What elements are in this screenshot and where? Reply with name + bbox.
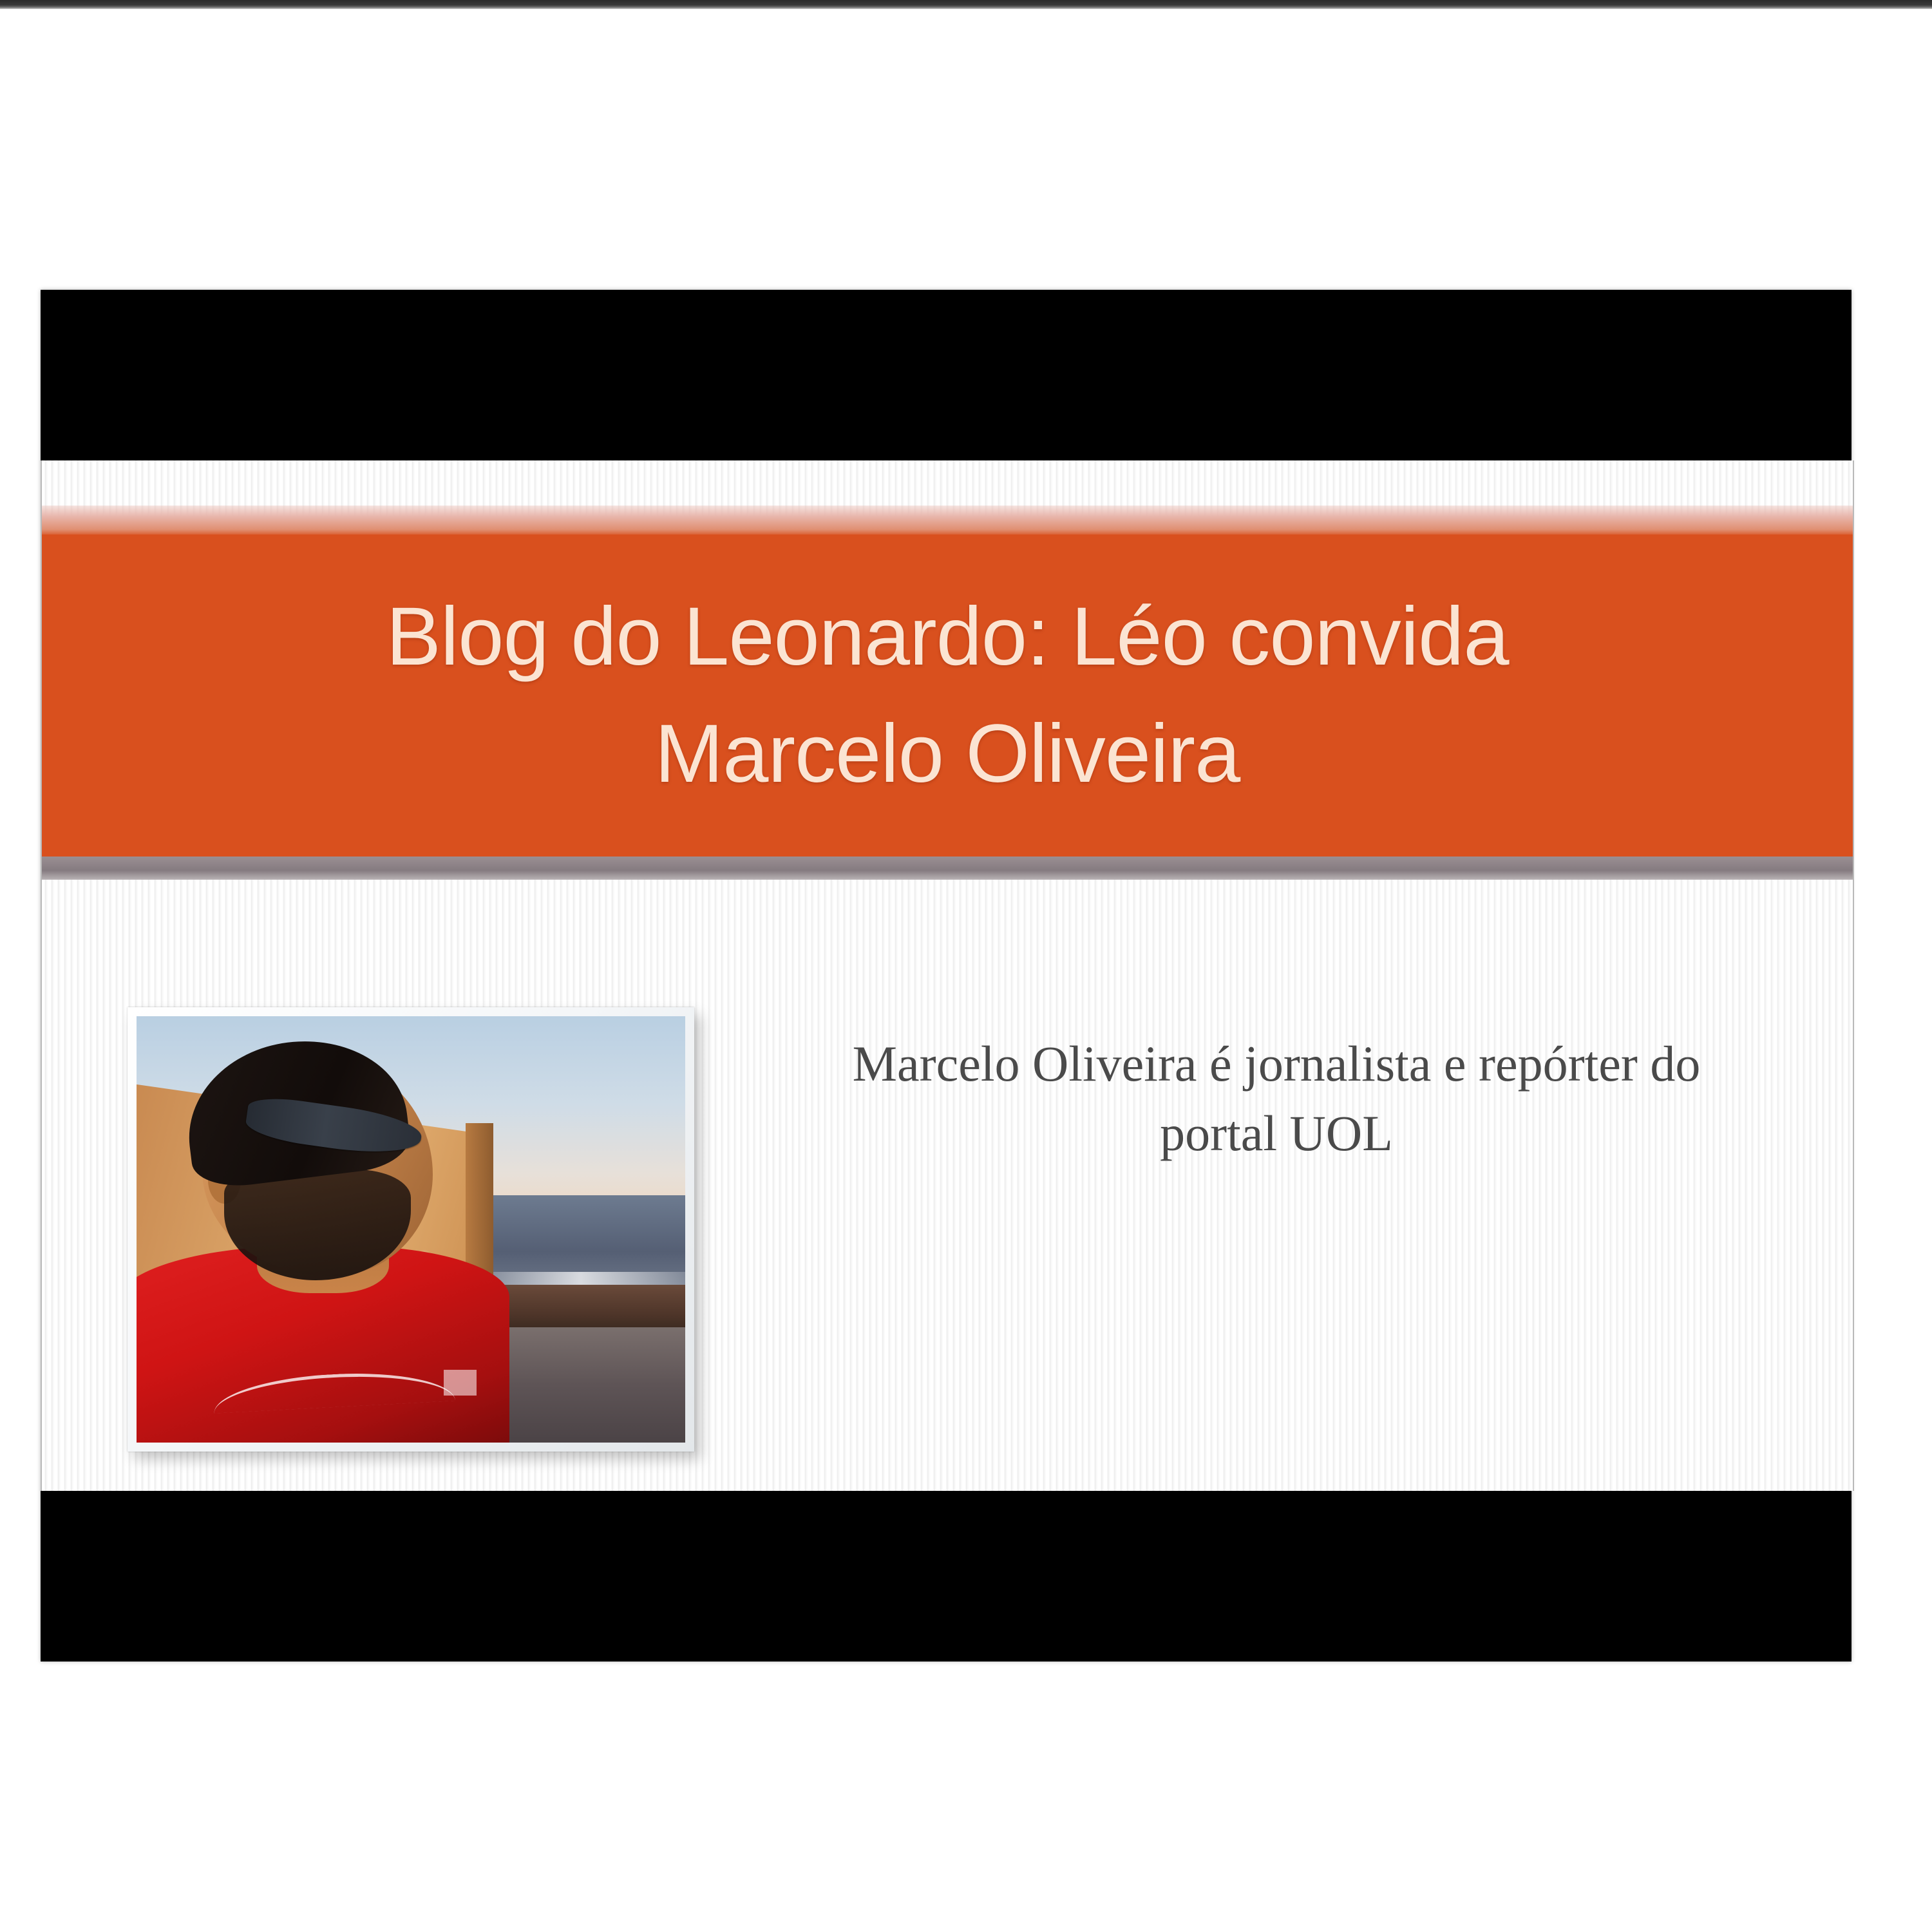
letterbox-bar-bottom <box>41 1491 1851 1662</box>
slide-title: Blog do Leonardo: Léo convida Marcelo Ol… <box>114 578 1780 813</box>
title-band: Blog do Leonardo: Léo convida Marcelo Ol… <box>42 535 1853 857</box>
top-chrome-bar <box>0 0 1932 9</box>
slide-caption: Marcelo Oliveira é jornalista e repórter… <box>748 1029 1804 1168</box>
letterbox-bar-top <box>41 290 1851 460</box>
portrait-photo <box>137 1016 685 1443</box>
photo-shirt-patch <box>444 1370 477 1396</box>
screenshot-root: Blog do Leonardo: Léo convida Marcelo Ol… <box>0 0 1932 1932</box>
title-accent-band <box>42 506 1853 536</box>
photo-frame <box>128 1007 694 1452</box>
presentation-slide: Blog do Leonardo: Léo convida Marcelo Ol… <box>41 460 1854 1491</box>
title-separator-band <box>42 857 1853 880</box>
photo-sea-foam <box>477 1272 685 1285</box>
slide-body: Marcelo Oliveira é jornalista e repórter… <box>42 880 1853 1491</box>
slide-viewer[interactable]: Blog do Leonardo: Léo convida Marcelo Ol… <box>41 290 1851 1662</box>
